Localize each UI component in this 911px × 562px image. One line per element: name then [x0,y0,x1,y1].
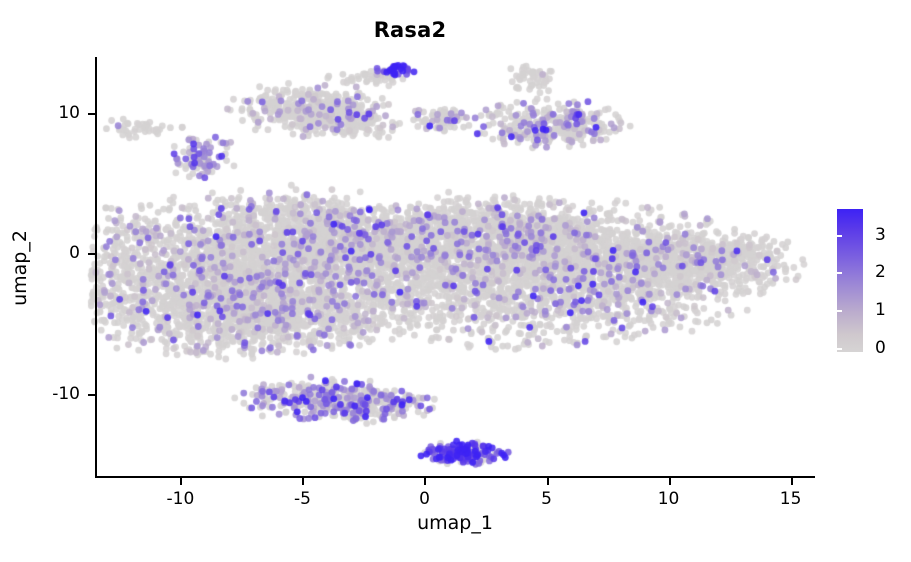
y-tick-label-0: 0 [69,243,80,263]
colorbar-label-3: 3 [875,225,886,245]
y-tick-label-10: 10 [58,103,80,123]
x-tick-label-0: 0 [419,489,430,509]
x-tick-label-5: 5 [541,489,552,509]
colorbar-label-2: 2 [875,262,886,282]
umap-feature-plot: Rasa2 -10-5051015 -10010 umap_1 umap_2 3… [0,0,911,562]
colorbar-label-0: 0 [875,338,886,358]
x-tick-label--5: -5 [294,489,311,509]
colorbar: 3210 [837,209,863,352]
x-tick-0 [424,478,426,485]
colorbar-tickmark-inner-1 [837,310,842,312]
y-axis-label: umap_2 [8,57,32,478]
x-tick-label--10: -10 [167,489,195,509]
y-axis-label-text: umap_2 [9,230,31,306]
colorbar-tickmark-inner-0 [837,348,842,350]
colorbar-tickmark-0 [863,348,868,350]
colorbar-tickmark-inner-3 [837,235,842,237]
y-tick-10 [88,113,95,115]
y-tick-0 [88,253,95,255]
y-axis-spine [95,57,97,478]
x-tick-15 [791,478,793,485]
x-tick-label-10: 10 [658,489,680,509]
y-tick-label--10: -10 [52,384,80,404]
colorbar-tickmark-1 [863,310,868,312]
colorbar-tickmark-inner-2 [837,272,842,274]
colorbar-label-1: 1 [875,300,886,320]
x-tick-5 [547,478,549,485]
y-tick--10 [88,394,95,396]
colorbar-tickmark-3 [863,235,868,237]
x-tick-label-15: 15 [780,489,802,509]
colorbar-tickmark-2 [863,272,868,274]
x-axis-spine [95,476,815,478]
x-axis-label: umap_1 [95,512,815,534]
x-tick-10 [669,478,671,485]
colorbar-gradient [837,209,863,352]
x-tick--5 [302,478,304,485]
x-tick--10 [180,478,182,485]
plot-axes: -10-5051015 -10010 [95,57,815,478]
